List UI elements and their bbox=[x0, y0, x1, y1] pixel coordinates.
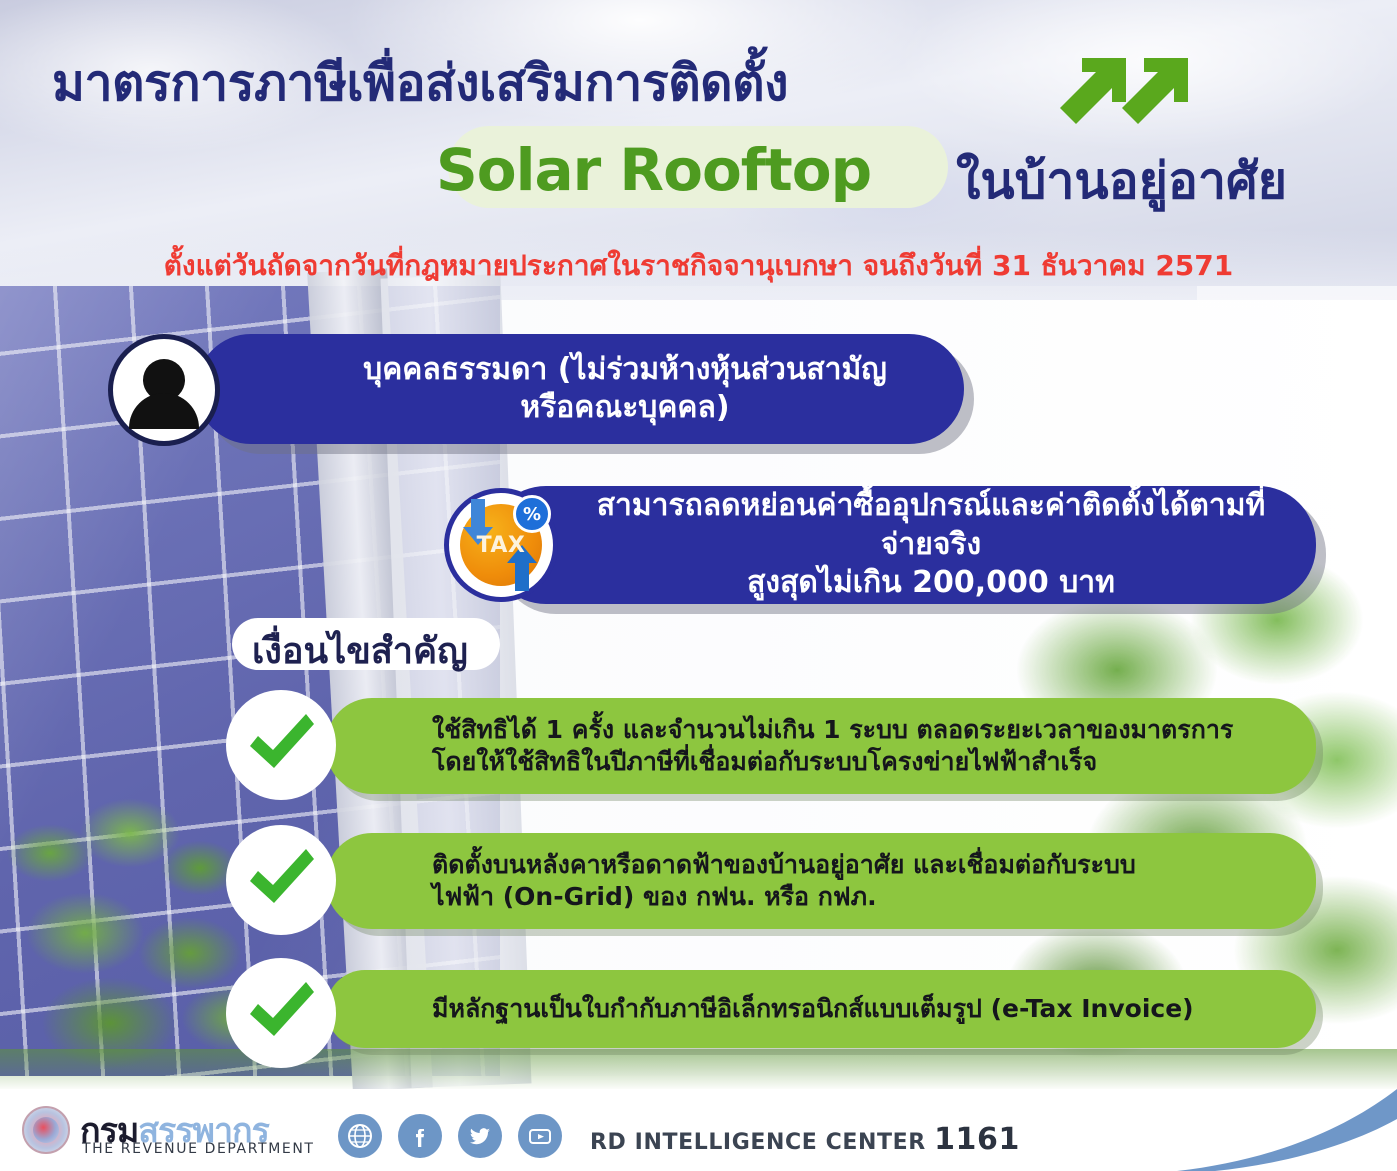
website-icon[interactable] bbox=[338, 1114, 382, 1158]
condition-line-2: ไฟฟ้า (On-Grid) ของ กฟน. หรือ กฟภ. bbox=[432, 881, 1136, 914]
eligibility-banner-text: บุคคลธรรมดา (ไม่ร่วมห้างหุ้นส่วนสามัญ หร… bbox=[316, 351, 934, 428]
deduction-line-1: สามารถลดหย่อนค่าซื้ออุปกรณ์และค่าติดตั้ง… bbox=[576, 487, 1286, 564]
effective-period-subtitle: ตั้งแต่วันถัดจากวันที่กฎหมายประกาศในราชก… bbox=[0, 244, 1397, 288]
youtube-icon[interactable] bbox=[518, 1114, 562, 1158]
deduction-banner: สามารถลดหย่อนค่าซื้ออุปกรณ์และค่าติดตั้ง… bbox=[488, 486, 1316, 604]
condition-text: ติดตั้งบนหลังคาหรือดาดฟ้าของบ้านอยู่อาศั… bbox=[326, 849, 1170, 914]
condition-text: ใช้สิทธิได้ 1 ครั้ง และจำนวนไม่เกิน 1 ระ… bbox=[326, 714, 1267, 779]
condition-bar: ใช้สิทธิได้ 1 ครั้ง และจำนวนไม่เกิน 1 ระ… bbox=[326, 698, 1316, 794]
call-center-number: 1161 bbox=[934, 1122, 1020, 1157]
social-links[interactable] bbox=[338, 1114, 562, 1158]
tax-icon-label: TAX bbox=[449, 533, 553, 558]
facebook-icon[interactable] bbox=[398, 1114, 442, 1158]
call-center-info: RD INTELLIGENCE CENTER 1161 bbox=[590, 1122, 1020, 1157]
condition-line-1: ติดตั้งบนหลังคาหรือดาดฟ้าของบ้านอยู่อาศั… bbox=[432, 849, 1136, 882]
double-arrow-up-right-icon bbox=[1052, 56, 1202, 136]
infographic-poster: มาตรการภาษีเพื่อส่งเสริมการติดตั้ง Solar… bbox=[0, 0, 1397, 1171]
eligibility-line-2: หรือคณะบุคคล) bbox=[316, 389, 934, 427]
tax-icon: TAX % bbox=[444, 488, 558, 602]
condition-line-2: โดยให้ใช้สิทธิในปีภาษีที่เชื่อมต่อกับระบ… bbox=[432, 746, 1233, 779]
conditions-heading: เงื่อนไขสำคัญ bbox=[252, 622, 468, 679]
condition-line-1: มีหลักฐานเป็นใบกำกับภาษีอิเล็กทรอนิกส์แบ… bbox=[432, 993, 1194, 1026]
page-title-suffix: ในบ้านอยู่อาศัย bbox=[956, 142, 1287, 221]
ground-strip bbox=[0, 1049, 1397, 1091]
condition-text: มีหลักฐานเป็นใบกำกับภาษีอิเล็กทรอนิกส์แบ… bbox=[326, 993, 1228, 1026]
condition-bar: ติดตั้งบนหลังคาหรือดาดฟ้าของบ้านอยู่อาศั… bbox=[326, 833, 1316, 929]
eligibility-banner: บุคคลธรรมดา (ไม่ร่วมห้างหุ้นส่วนสามัญ หร… bbox=[196, 334, 964, 444]
call-center-label: RD INTELLIGENCE CENTER bbox=[590, 1130, 926, 1155]
deduction-banner-text: สามารถลดหย่อนค่าซื้ออุปกรณ์และค่าติดตั้ง… bbox=[576, 487, 1286, 602]
page-title-line-1: มาตรการภาษีเพื่อส่งเสริมการติดตั้ง bbox=[52, 55, 1012, 113]
eligibility-line-1: บุคคลธรรมดา (ไม่ร่วมห้างหุ้นส่วนสามัญ bbox=[316, 351, 934, 389]
condition-bar: มีหลักฐานเป็นใบกำกับภาษีอิเล็กทรอนิกส์แบ… bbox=[326, 970, 1316, 1048]
person-icon bbox=[108, 334, 220, 446]
deduction-line-2: สูงสุดไม่เกิน 200,000 บาท bbox=[576, 564, 1286, 602]
decorative-swoosh bbox=[1137, 1089, 1397, 1171]
condition-line-1: ใช้สิทธิได้ 1 ครั้ง และจำนวนไม่เกิน 1 ระ… bbox=[432, 714, 1233, 747]
header: มาตรการภาษีเพื่อส่งเสริมการติดตั้ง Solar… bbox=[0, 0, 1397, 290]
check-icon bbox=[226, 958, 336, 1068]
page-title-highlight: Solar Rooftop bbox=[436, 136, 871, 204]
revenue-department-seal-icon bbox=[22, 1106, 70, 1154]
revenue-department-logo-english: THE REVENUE DEPARTMENT bbox=[82, 1141, 315, 1157]
percent-badge-icon: % bbox=[513, 495, 551, 533]
check-icon bbox=[226, 825, 336, 935]
check-icon bbox=[226, 690, 336, 800]
twitter-icon[interactable] bbox=[458, 1114, 502, 1158]
